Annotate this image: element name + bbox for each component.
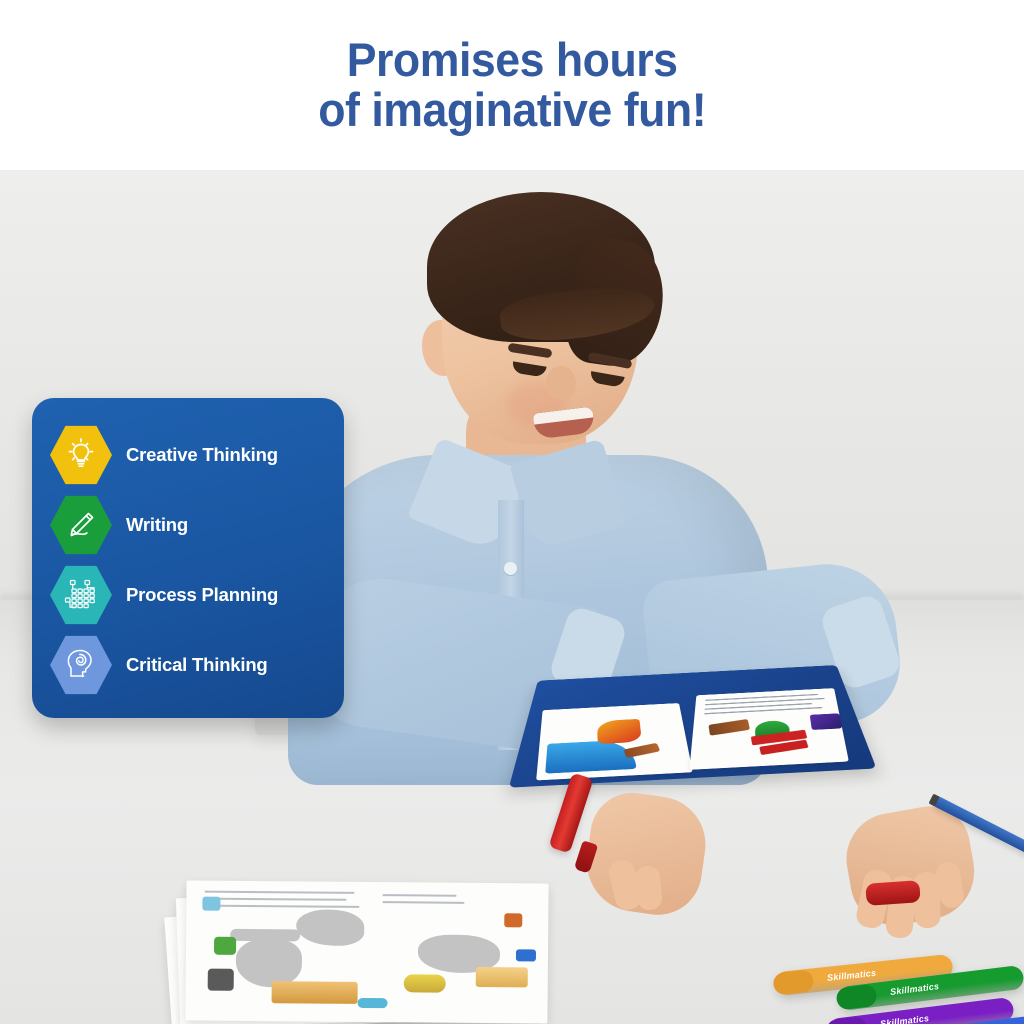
book-page-left	[536, 703, 693, 780]
circuit-grid-icon	[50, 564, 112, 626]
feature-label: Writing	[126, 514, 188, 536]
feature-label: Creative Thinking	[126, 444, 278, 466]
feature-card: Creative Thinking Writing	[32, 398, 344, 718]
marker-cap	[835, 984, 877, 1011]
lightbulb-icon	[50, 424, 112, 486]
feature-row-writing[interactable]: Writing	[32, 490, 344, 560]
brain-head-icon	[50, 634, 112, 696]
feature-row-creative-thinking[interactable]: Creative Thinking	[32, 420, 344, 490]
marker-brand-label: Skillmatics	[880, 1013, 930, 1024]
red-marker-cap	[865, 880, 920, 906]
nose	[546, 366, 576, 400]
marker-brand-label: Skillmatics	[890, 981, 940, 997]
marker-cap	[772, 969, 814, 995]
headline-line-1: Promises hours	[347, 35, 678, 85]
book-page-right	[689, 688, 848, 770]
feature-label: Process Planning	[126, 584, 278, 606]
feature-row-critical-thinking[interactable]: Critical Thinking	[32, 630, 344, 700]
headline-banner: Promises hours of imaginative fun!	[0, 0, 1024, 170]
headline-line-2: of imaginative fun!	[318, 85, 706, 135]
pencil-icon	[50, 494, 112, 556]
sticker-sheet	[185, 880, 548, 1023]
shirt-button	[504, 562, 517, 575]
feature-row-process-planning[interactable]: Process Planning	[32, 560, 344, 630]
product-lifestyle-photo: Write about... Discovering mysterious fo…	[0, 170, 1024, 1024]
marker-brand-label: Skillmatics	[827, 968, 877, 983]
feature-label: Critical Thinking	[126, 654, 268, 676]
